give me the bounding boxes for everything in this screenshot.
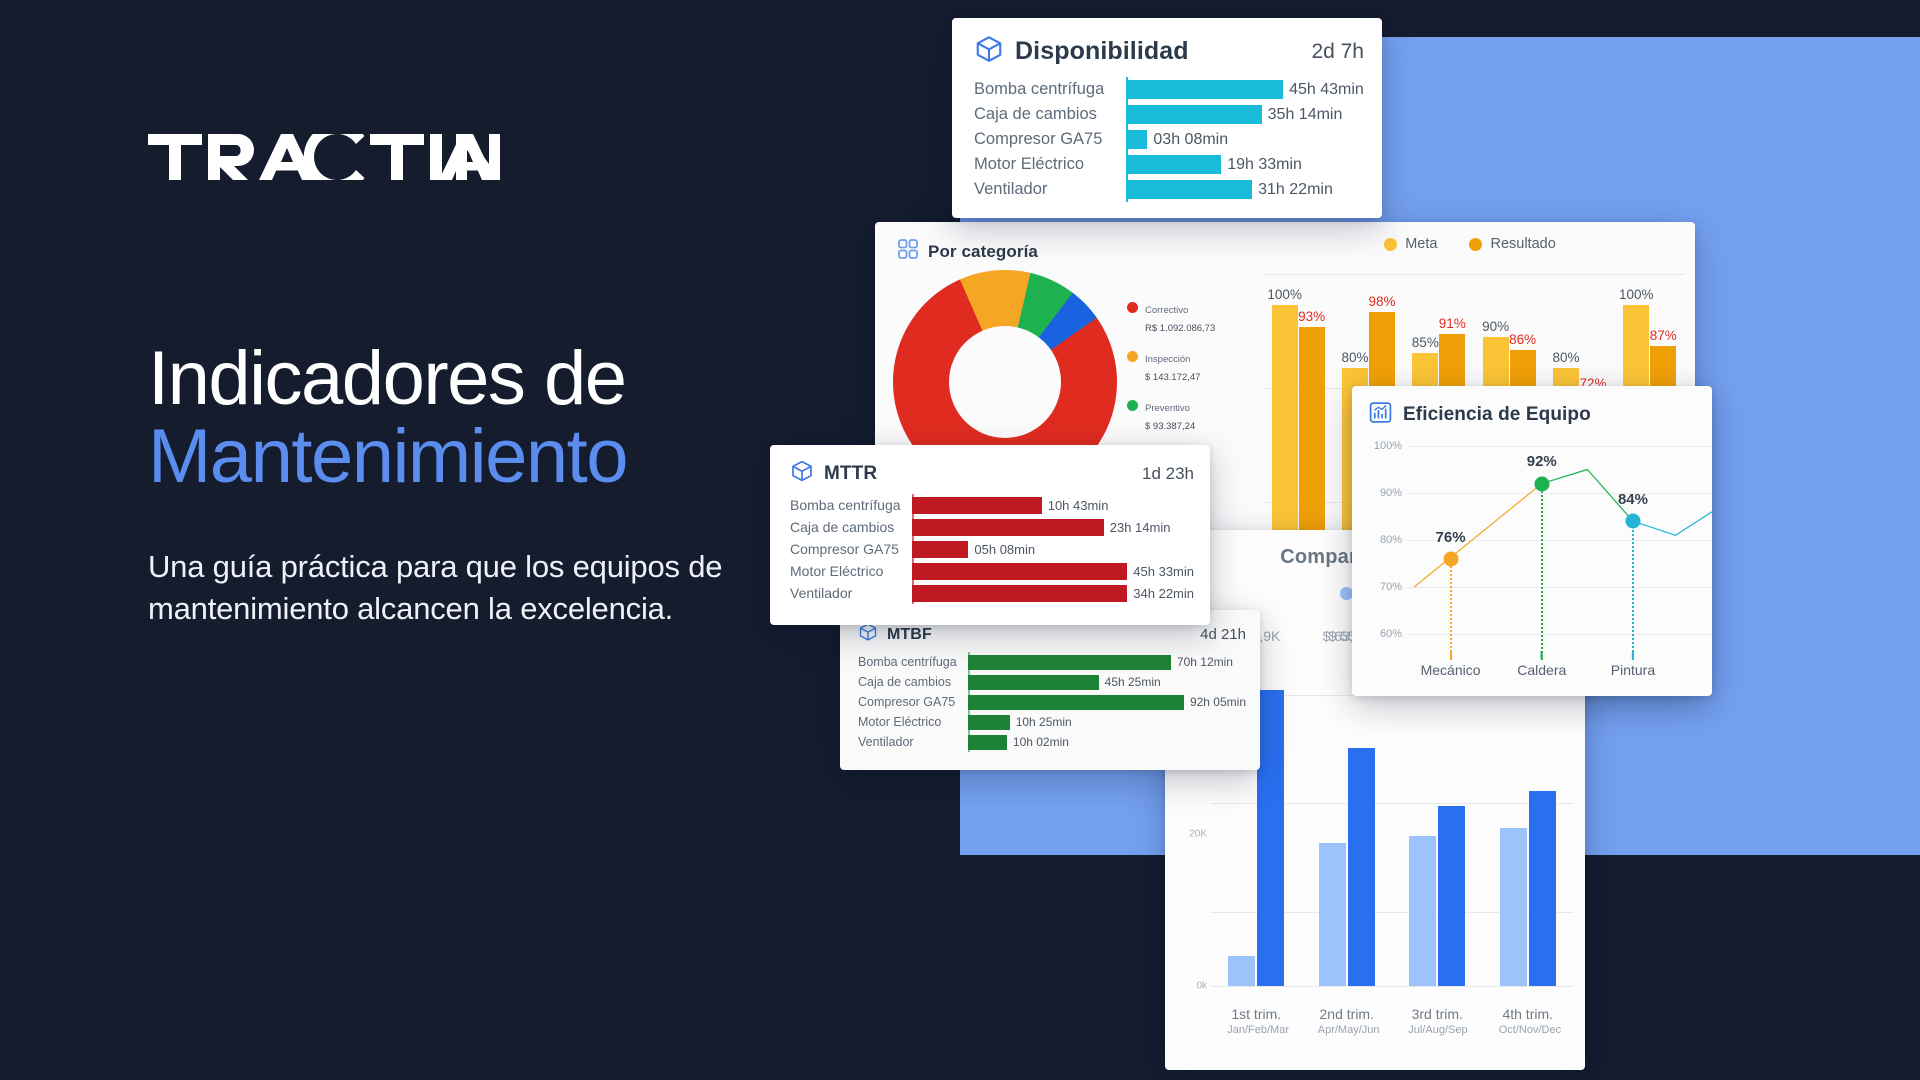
axis-tick [1632,651,1634,659]
kpi-track: 10h 25min [968,715,1246,730]
data-point-label: 84% [1618,491,1648,508]
kpi-row: Ventilador31h 22min [974,177,1364,202]
kpi-track: 31h 22min [1126,180,1364,199]
bar-group: $ 55K$ 63,5K [1319,648,1375,986]
kpi-bar [1126,130,1147,149]
kpi-label: Ventilador [790,585,912,601]
bar-value-label: 98% [1368,294,1395,309]
headline-line-1: Indicadores de [148,336,626,421]
kpi-track: 70h 12min [968,655,1246,670]
x-tick-sublabel: Oct/Nov/Dec [1499,1024,1557,1036]
x-tick-label: Mecánico [1421,662,1481,678]
legend-dot-meta [1384,238,1397,251]
kpi-bar [968,735,1007,750]
bar-actual: $ 63,5K [1348,748,1375,986]
kpi-label: Caja de cambios [858,675,968,689]
disponibilidad-header: Disponibilidad 2d 7h [974,34,1364,69]
kpi-label: Bomba centrífuga [790,497,912,513]
disponibilidad-total: 2d 7h [1311,40,1364,64]
kpi-bar [1126,180,1252,199]
x-tick-label: 3rd trim. [1408,1006,1466,1022]
eficiencia-equipo-card: Eficiencia de Equipo 100%90%80%70%60%76%… [1352,386,1712,696]
kpi-row: Ventilador34h 22min [790,582,1194,604]
bar-planned: $ 55K [1319,843,1346,986]
kpi-value: 45h 25min [1105,675,1161,689]
kpi-bar [912,585,1127,602]
kpi-value: 92h 05min [1190,695,1246,709]
kpi-track: 10h 43min [912,497,1194,514]
bar-group [1500,648,1556,986]
legend-value: $ 93.387,24 [1145,421,1195,432]
bar-value-label: 91% [1439,316,1466,331]
kpi-value: 45h 43min [1289,81,1364,99]
legend-label-meta: Meta [1405,236,1437,252]
bar-planned [1228,956,1255,986]
kpi-row: Compresor GA7503h 08min [974,127,1364,152]
legend-item: Correctivo R$ 1.092.086,73 [1127,300,1247,336]
mtbf-card: MTBF 4d 21h Bomba centrífuga70h 12minCaj… [840,610,1260,770]
kpi-track: 35h 14min [1126,105,1364,124]
kpi-bar [968,695,1184,710]
kpi-bar [968,675,1099,690]
kpi-track: 23h 14min [912,519,1194,536]
kpi-value: 70h 12min [1177,655,1233,669]
bar-value-label: 80% [1552,350,1579,365]
mtbf-total: 4d 21h [1200,626,1246,643]
kpi-label: Motor Eléctrico [974,155,1126,174]
subheadline: Una guía práctica para que los equipos d… [148,546,868,630]
kpi-value: 03h 08min [1153,131,1228,149]
kpi-bar [1126,105,1262,124]
mttr-rows: Bomba centrífuga10h 43minCaja de cambios… [790,494,1194,604]
eficiencia-line-chart: 100%90%80%70%60%76%92%84% [1408,446,1712,634]
disponibilidad-title: Disponibilidad [1015,37,1189,66]
x-tick-sublabel: Jan/Feb/Mar [1227,1024,1285,1036]
kpi-row: Bomba centrífuga10h 43min [790,494,1194,516]
bar-value-label: 85% [1412,335,1439,350]
data-point[interactable] [1443,551,1458,566]
kpi-bar [912,497,1042,514]
kpi-row: Caja de cambios35h 14min [974,102,1364,127]
chart-bar-icon [1368,400,1393,430]
x-tick-label: 2nd trim. [1318,1006,1376,1022]
tractian-logo [148,134,500,180]
legend-item-resultado: Resultado [1469,236,1555,252]
mtbf-header: MTBF 4d 21h [858,622,1246,647]
y-tick-label: 100% [1374,440,1402,452]
x-tick-group: 3rd trim.Jul/Aug/Sep [1408,1006,1466,1036]
meta-resultado-legend: Meta Resultado [1245,236,1695,252]
grid-icon [897,238,919,265]
kpi-bar [912,541,968,558]
y-tick-label: 0k [1196,981,1207,992]
kpi-row: Ventilador10h 02min [858,732,1246,752]
legend-dot-resultado [1469,238,1482,251]
kpi-label: Compresor GA75 [974,130,1126,149]
x-tick-label: 1st trim. [1227,1006,1285,1022]
kpi-value: 35h 14min [1268,106,1343,124]
cube-icon [858,622,878,647]
x-tick-group: 4th trim.Oct/Nov/Dec [1499,1006,1557,1036]
bar-value-label: 87% [1650,328,1677,343]
data-point[interactable] [1534,476,1549,491]
mttr-total: 1d 23h [1142,464,1194,484]
gridline [1408,634,1712,635]
kpi-track: 92h 05min [968,695,1246,710]
data-point[interactable] [1625,514,1640,529]
data-point-label: 92% [1527,453,1557,470]
kpi-row: Caja de cambios23h 14min [790,516,1194,538]
eficiencia-title: Eficiencia de Equipo [1403,404,1591,426]
y-tick-label: 70% [1380,581,1402,593]
por-categoria-title: Por categoría [928,242,1038,262]
kpi-value: 34h 22min [1133,586,1194,601]
x-tick-sublabel: Jul/Aug/Sep [1408,1024,1466,1036]
y-tick-label: 80% [1380,534,1402,546]
kpi-value: 19h 33min [1227,156,1302,174]
legend-value: R$ 1.092.086,73 [1145,323,1215,334]
point-stem [1450,559,1452,660]
x-tick-label: 4th trim. [1499,1006,1557,1022]
x-tick-group: 1st trim.Jan/Feb/Mar [1227,1006,1285,1036]
bar-planned [1409,836,1436,986]
kpi-row: Compresor GA7505h 08min [790,538,1194,560]
mtbf-rows: Bomba centrífuga70h 12minCaja de cambios… [858,652,1246,752]
dashboard-collage: Por categoría Correctivo R$ 1.092.086,73… [960,0,1920,1080]
kpi-bar [968,655,1171,670]
legend-label-resultado: Resultado [1490,236,1555,252]
x-tick-group: 2nd trim.Apr/May/Jun [1318,1006,1376,1036]
legend-label: Preventivo [1145,403,1190,414]
kpi-bar [968,715,1010,730]
data-point-label: 76% [1436,529,1466,546]
point-stem [1632,521,1634,660]
kpi-row: Motor Eléctrico45h 33min [790,560,1194,582]
legend-value: $ 143.172,47 [1145,372,1200,383]
bar-value-label: 80% [1341,350,1368,365]
bar-value-label: 93% [1298,309,1325,324]
axis-tick [1450,651,1452,659]
comparacion-x-axis: 1st trim.Jan/Feb/Mar2nd trim.Apr/May/Jun… [1211,1006,1573,1036]
kpi-row: Motor Eléctrico19h 33min [974,152,1364,177]
y-tick-label: 60% [1380,628,1402,640]
kpi-label: Compresor GA75 [790,541,912,557]
kpi-label: Motor Eléctrico [790,563,912,579]
legend-dot-planned [1340,587,1353,600]
kpi-bar [1126,155,1221,174]
kpi-bar [912,563,1127,580]
bar-value-label: 86% [1509,332,1536,347]
disponibilidad-rows: Bomba centrífuga45h 43minCaja de cambios… [974,77,1364,202]
y-tick-label: 20K [1189,828,1207,839]
bar-actual [1438,806,1465,986]
kpi-row: Caja de cambios45h 25min [858,672,1246,692]
disponibilidad-card: Disponibilidad 2d 7h Bomba centrífuga45h… [952,18,1382,218]
kpi-label: Ventilador [974,180,1126,199]
y-tick-label: 90% [1380,487,1402,499]
legend-label: Inspección [1145,354,1190,365]
kpi-label: Compresor GA75 [858,695,968,709]
mtbf-title: MTBF [887,626,932,644]
legend-label: Correctivo [1145,305,1188,316]
kpi-row: Compresor GA7592h 05min [858,692,1246,712]
mttr-card: MTTR 1d 23h Bomba centrífuga10h 43minCaj… [770,445,1210,625]
legend-dot-preventivo [1127,400,1138,411]
kpi-row: Bomba centrífuga45h 43min [974,77,1364,102]
cube-icon [974,34,1004,69]
x-tick-sublabel: Apr/May/Jun [1318,1024,1376,1036]
kpi-bar [1126,80,1283,99]
kpi-row: Bomba centrífuga70h 12min [858,652,1246,672]
legend-dot-inspeccion [1127,351,1138,362]
kpi-value: 23h 14min [1110,520,1171,535]
legend-item-meta: Meta [1384,236,1437,252]
bar-value-label: 100% [1267,287,1302,302]
bar-actual [1529,791,1556,986]
kpi-track: 34h 22min [912,585,1194,602]
x-tick-label: Caldera [1517,662,1566,678]
kpi-label: Bomba centrífuga [858,655,968,669]
eficiencia-header: Eficiencia de Equipo [1368,400,1712,430]
axis-tick [1541,651,1543,659]
kpi-track: 19h 33min [1126,155,1364,174]
kpi-track: 05h 08min [912,541,1194,558]
kpi-label: Caja de cambios [790,519,912,535]
kpi-track: 10h 02min [968,735,1246,750]
kpi-track: 45h 25min [968,675,1246,690]
bar-value-label: 90% [1482,319,1509,334]
legend-dot-correctivo [1127,302,1138,313]
x-tick-label: Pintura [1611,662,1655,678]
kpi-value: 10h 43min [1048,498,1109,513]
kpi-label: Caja de cambios [974,105,1126,124]
kpi-track: 45h 33min [912,563,1194,580]
kpi-value: 10h 25min [1016,715,1072,729]
kpi-label: Motor Eléctrico [858,715,968,729]
bar-planned [1500,828,1527,986]
cube-icon [790,459,814,488]
bar-value-label: 100% [1619,287,1654,302]
gridline [1211,986,1573,987]
mttr-title: MTTR [824,463,877,485]
kpi-label: Bomba centrífuga [974,80,1126,99]
kpi-label: Ventilador [858,735,968,749]
bar-actual: $ 78,9K [1257,690,1284,986]
point-stem [1541,484,1543,660]
legend-item: Preventivo $ 93.387,24 [1127,398,1247,434]
bar-group [1409,648,1465,986]
kpi-value: 31h 22min [1258,181,1333,199]
kpi-value: 05h 08min [974,542,1035,557]
kpi-track: 03h 08min [1126,130,1364,149]
kpi-row: Motor Eléctrico10h 25min [858,712,1246,732]
kpi-value: 45h 33min [1133,564,1194,579]
kpi-track: 45h 43min [1126,80,1364,99]
kpi-value: 10h 02min [1013,735,1069,749]
kpi-bar [912,519,1104,536]
comparacion-plot: $ 78,9K$ 55K$ 63,5K [1211,648,1573,986]
mttr-header: MTTR 1d 23h [790,459,1194,488]
por-categoria-header: Por categoría [897,238,1245,265]
legend-item: Inspección $ 143.172,47 [1127,349,1247,385]
